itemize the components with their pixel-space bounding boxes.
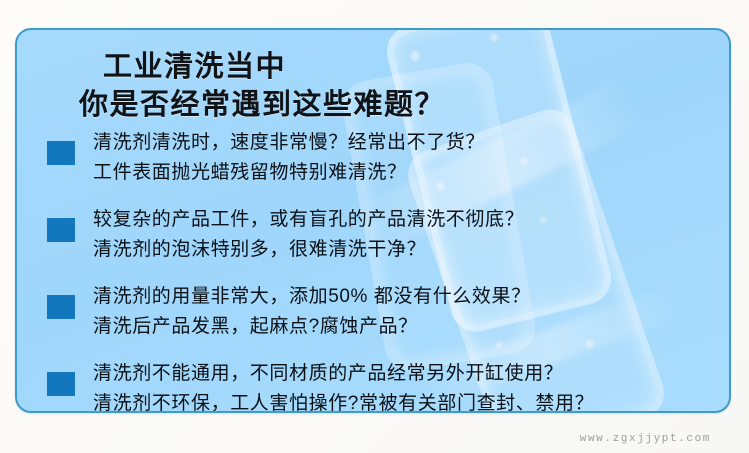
frame-hole-icon: [488, 31, 500, 43]
headline-group: 工业清洗当中 你是否经常遇到这些难题？: [79, 48, 445, 124]
square-bullet-icon: [47, 372, 75, 396]
list-item-text: 较复杂的产品工件，或有盲孔的产品清洗不彻底？ 清洗剂的泡沫特别多，很难清洗干净？: [93, 203, 713, 265]
list-item-line: 较复杂的产品工件，或有盲孔的产品清洗不彻底？: [93, 205, 713, 235]
list-item-line: 清洗剂清洗时，速度非常慢？经常出不了货？: [93, 128, 713, 158]
list-item: 清洗剂不能通用，不同材质的产品经常另外开缸使用？ 清洗剂不环保，工人害怕操作?常…: [47, 357, 713, 413]
list-item-line: 清洗剂的泡沫特别多，很难清洗干净？: [93, 235, 713, 265]
list-item-line: 清洗剂不环保，工人害怕操作?常被有关部门查封、禁用？: [93, 389, 713, 413]
list-item: 清洗剂的用量非常大，添加50% 都没有什么效果？ 清洗后产品发黑，起麻点?腐蚀产…: [47, 280, 713, 342]
square-bullet-icon: [47, 295, 75, 319]
list-item-line: 清洗后产品发黑，起麻点?腐蚀产品？: [93, 312, 713, 342]
promo-banner: 工业清洗当中 你是否经常遇到这些难题？ 清洗剂清洗时，速度非常慢？经常出不了货？…: [0, 0, 749, 453]
list-item-text: 清洗剂的用量非常大，添加50% 都没有什么效果？ 清洗后产品发黑，起麻点?腐蚀产…: [93, 280, 713, 342]
list-item-line: 清洗剂不能通用，不同材质的产品经常另外开缸使用？: [93, 359, 713, 389]
headline-line-1: 工业清洗当中: [79, 48, 445, 86]
list-item: 较复杂的产品工件，或有盲孔的产品清洗不彻底？ 清洗剂的泡沫特别多，很难清洗干净？: [47, 203, 713, 265]
pain-point-list: 清洗剂清洗时，速度非常慢？经常出不了货？ 工件表面抛光蜡残留物特别难清洗？ 较复…: [47, 126, 713, 413]
list-item-line: 清洗剂的用量非常大，添加50% 都没有什么效果？: [93, 282, 713, 312]
list-item-line: 工件表面抛光蜡残留物特别难清洗？: [93, 158, 713, 188]
site-watermark: www.zgxjjypt.com: [580, 433, 711, 445]
square-bullet-icon: [47, 141, 75, 165]
headline-line-2: 你是否经常遇到这些难题？: [79, 86, 445, 124]
square-bullet-icon: [47, 218, 75, 242]
list-item-text: 清洗剂清洗时，速度非常慢？经常出不了货？ 工件表面抛光蜡残留物特别难清洗？: [93, 126, 713, 188]
list-item-text: 清洗剂不能通用，不同材质的产品经常另外开缸使用？ 清洗剂不环保，工人害怕操作?常…: [93, 357, 713, 413]
content-panel: 工业清洗当中 你是否经常遇到这些难题？ 清洗剂清洗时，速度非常慢？经常出不了货？…: [15, 28, 731, 413]
list-item: 清洗剂清洗时，速度非常慢？经常出不了货？ 工件表面抛光蜡残留物特别难清洗？: [47, 126, 713, 188]
